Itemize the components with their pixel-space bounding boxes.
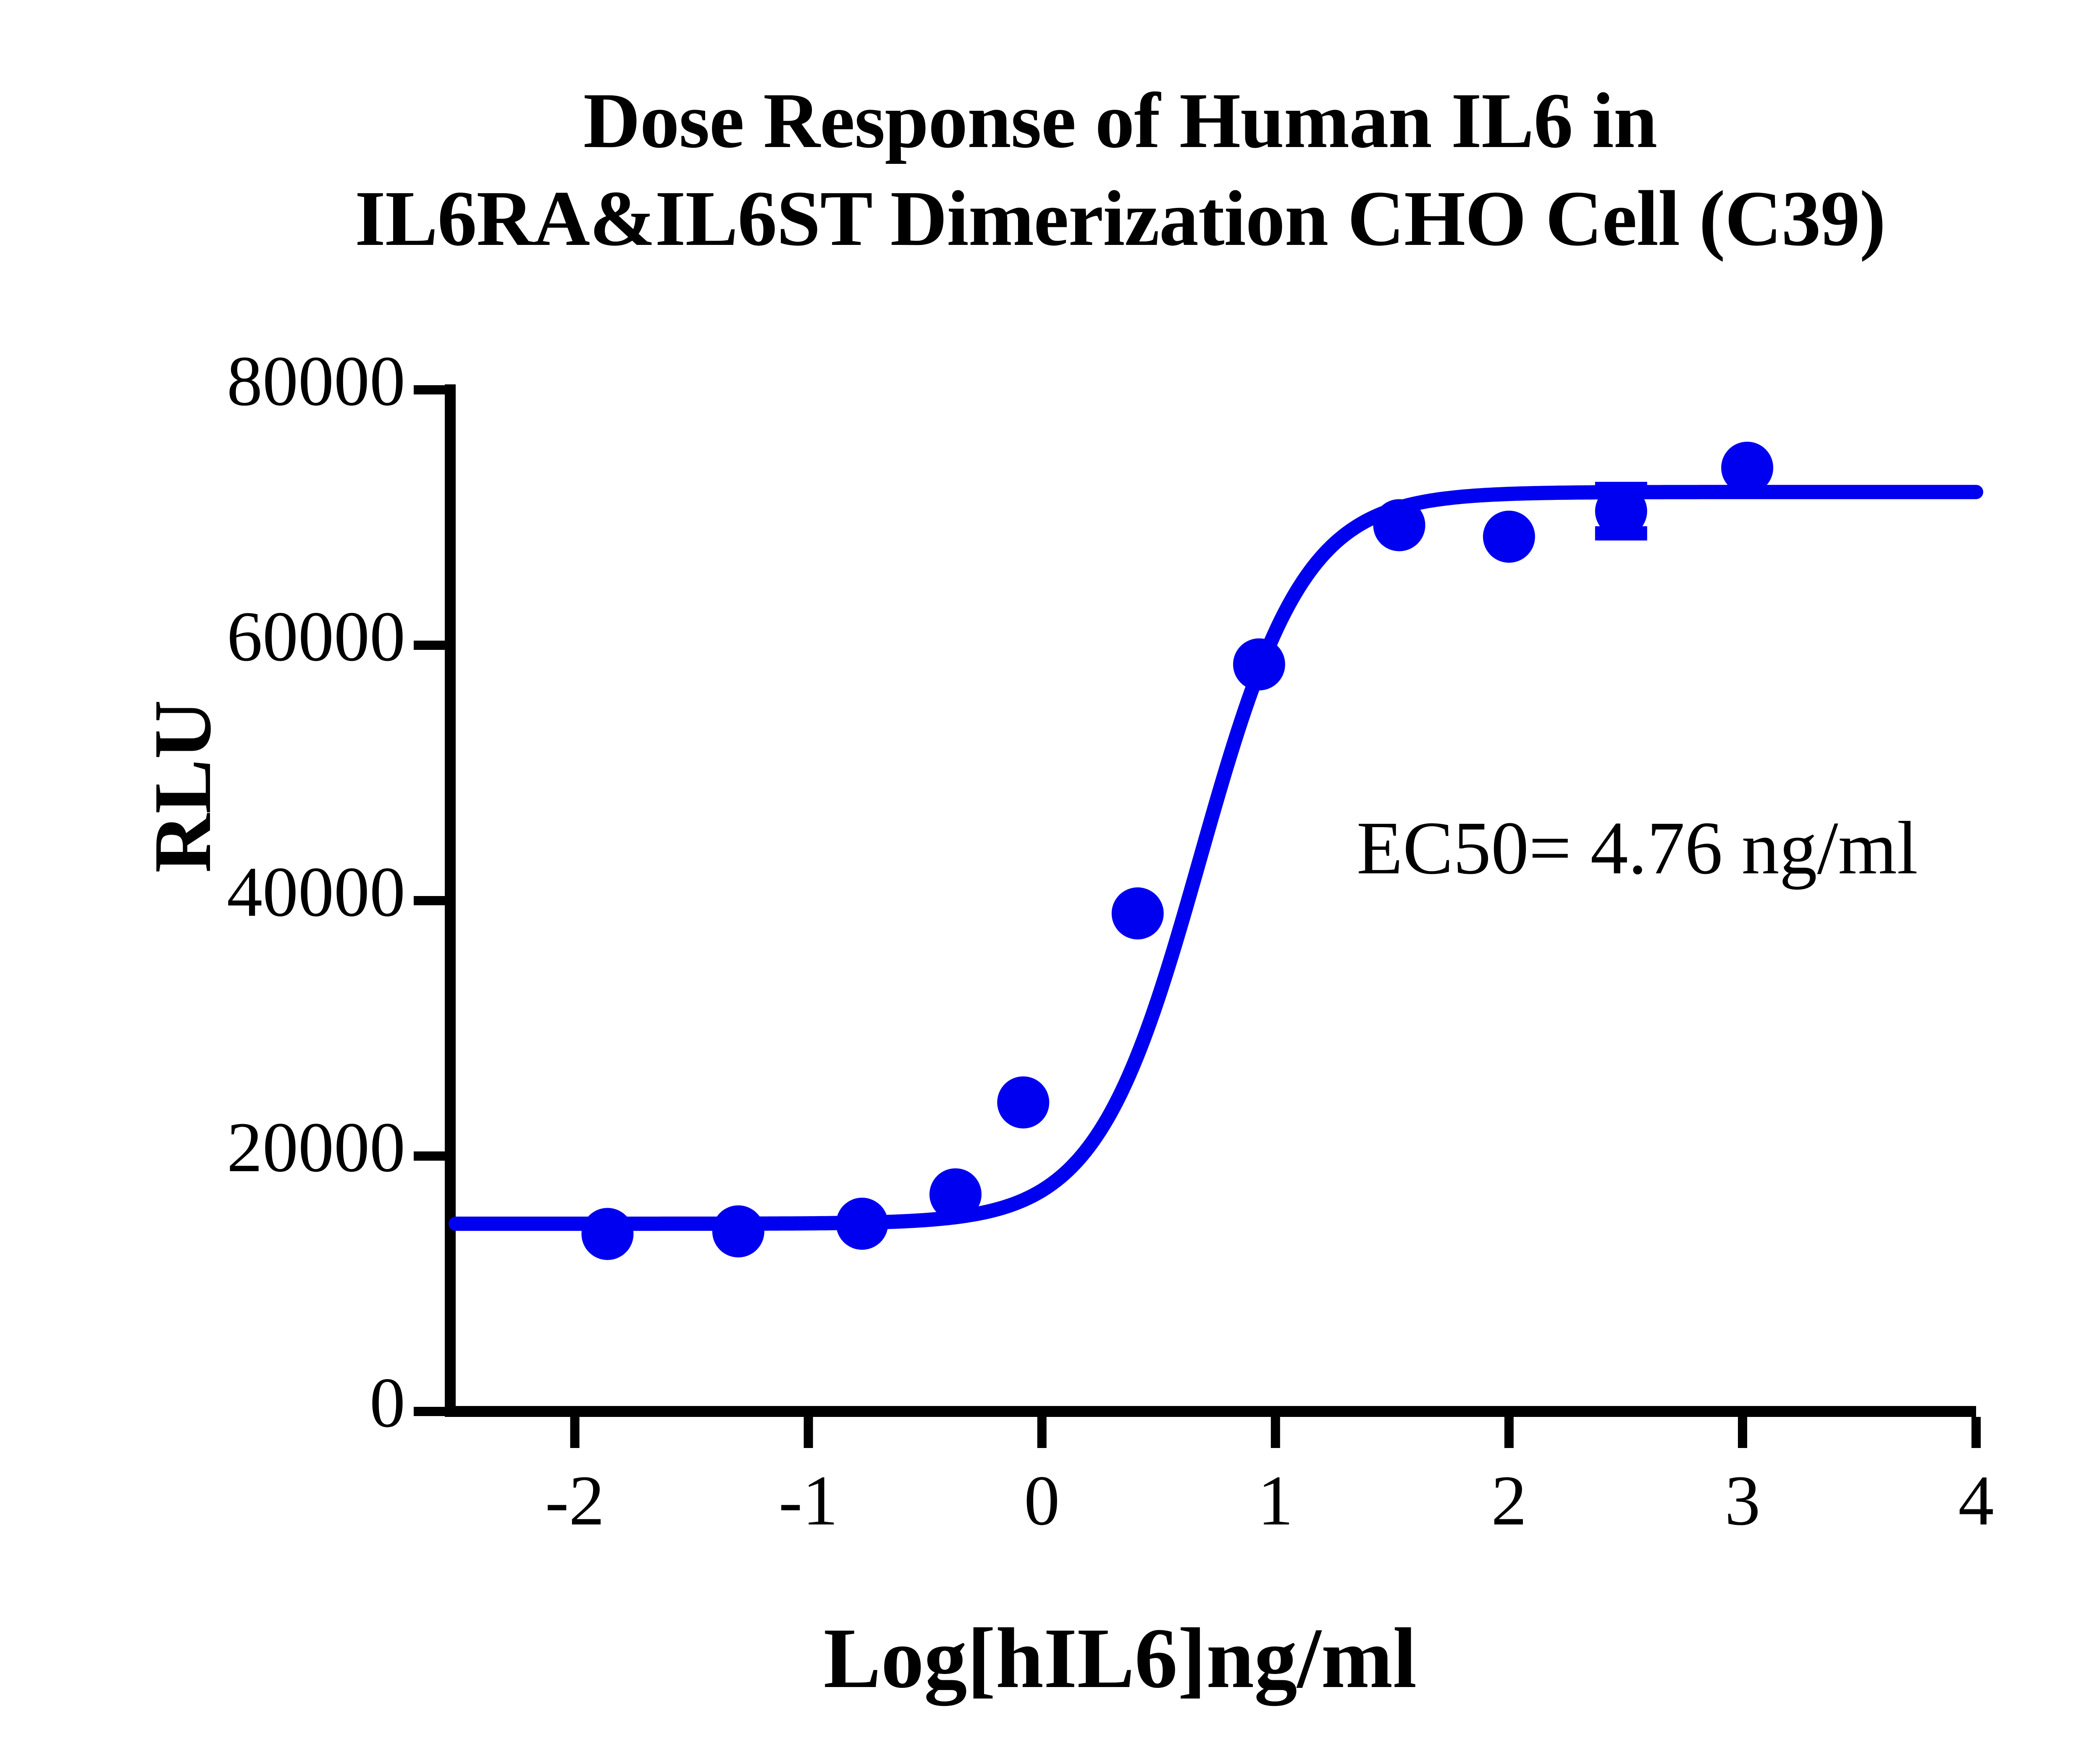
y-tick-label-3: 60000 <box>50 596 405 678</box>
y-tick-label-1: 20000 <box>50 1106 405 1188</box>
x-tick-0 <box>570 1417 580 1448</box>
y-tick-label-4: 80000 <box>50 340 405 422</box>
x-axis-line <box>445 1406 1976 1417</box>
y-tick-label-2: 40000 <box>50 851 405 933</box>
x-tick-2 <box>1037 1417 1047 1448</box>
x-tick-label-0: -2 <box>491 1460 659 1542</box>
data-point-8 <box>1483 511 1535 563</box>
data-point-5 <box>1112 887 1164 939</box>
fit-curve-path <box>456 492 1976 1224</box>
fit-curve <box>456 492 1976 1224</box>
data-point-7 <box>1373 499 1425 551</box>
y-tick-2 <box>414 896 445 905</box>
x-tick-label-6: 4 <box>1892 1460 2060 1542</box>
x-tick-5 <box>1738 1417 1747 1448</box>
x-tick-label-4: 2 <box>1425 1460 1593 1542</box>
data-point-6 <box>1233 639 1285 691</box>
chart-root: Dose Response of Human IL6 in IL6RA&IL6S… <box>0 0 2100 1745</box>
data-point-9 <box>1595 485 1647 537</box>
data-point-0 <box>581 1208 633 1260</box>
y-tick-1 <box>414 1151 445 1161</box>
y-tick-0 <box>414 1407 445 1416</box>
x-tick-3 <box>1271 1417 1280 1448</box>
x-tick-label-5: 3 <box>1659 1460 1827 1542</box>
y-tick-label-0: 0 <box>50 1362 405 1444</box>
x-tick-6 <box>1971 1417 1981 1448</box>
x-tick-label-3: 1 <box>1192 1460 1360 1542</box>
data-point-3 <box>929 1168 982 1220</box>
y-tick-3 <box>414 641 445 650</box>
data-point-1 <box>712 1205 764 1257</box>
x-tick-label-1: -1 <box>724 1460 892 1542</box>
data-points <box>581 442 1773 1260</box>
x-tick-label-2: 0 <box>958 1460 1126 1542</box>
y-tick-4 <box>414 385 445 394</box>
data-point-2 <box>836 1198 888 1250</box>
x-tick-1 <box>804 1417 813 1448</box>
axes <box>414 384 1981 1448</box>
x-tick-4 <box>1504 1417 1514 1448</box>
y-axis-line <box>445 384 456 1411</box>
data-point-10 <box>1721 442 1773 494</box>
data-point-4 <box>997 1076 1049 1128</box>
